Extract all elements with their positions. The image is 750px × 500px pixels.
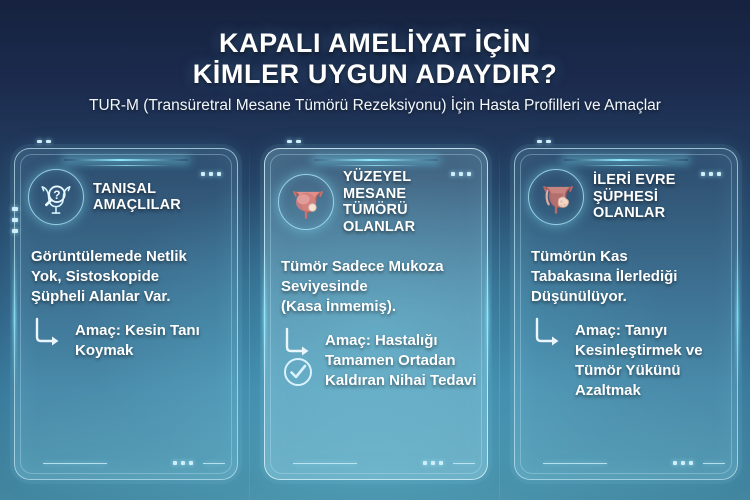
card-goal-text: Amaç: Hastalığı Tamamen Ortadan Kaldıran… — [325, 331, 487, 391]
elbow-arrow-icon — [31, 317, 65, 351]
check-circle-icon — [283, 357, 313, 387]
card-tanisal-amaclilar[interactable]: ? TANISAL AMAÇLILAR Görüntülemede Netlik… — [14, 148, 238, 480]
card-title: İLERİ EVRE ŞÜPHESİ OLANLAR — [593, 172, 725, 222]
page-title-line1: KAPALI AMELİYAT İÇİN — [0, 28, 750, 59]
card-accent-line — [564, 159, 688, 161]
bladder-superficial-tumor-icon — [278, 174, 334, 230]
page-title-line2: KİMLER UYGUN ADAYDIR? — [0, 59, 750, 90]
card-bottom-segment — [43, 463, 107, 465]
card-accent-line-secondary — [82, 165, 171, 166]
card-edge-glow-left — [263, 248, 266, 387]
card-top-dots — [37, 140, 51, 143]
card-left-dots — [12, 207, 18, 233]
elbow-arrow-icon — [281, 327, 315, 361]
card-bottom-dots — [673, 461, 693, 465]
page-subtitle: TUR-M (Transüretral Mesane Tümörü Rezeks… — [0, 97, 750, 115]
card-corner-dots — [451, 172, 471, 176]
card-edge-glow — [13, 248, 16, 387]
card-bottom-segment-right — [203, 463, 225, 465]
card-accent-line — [314, 159, 438, 161]
bladder-advanced-tumor-icon — [528, 169, 584, 225]
card-goal-text: Amaç: Tanıyı Kesinleştirmek ve Tümör Yük… — [575, 321, 737, 401]
card-corner-dots — [701, 172, 721, 176]
header: KAPALI AMELİYAT İÇİN KİMLER UYGUN ADAYDI… — [0, 28, 750, 115]
card-bottom-segment-right — [453, 463, 475, 465]
card-header: YÜZEYEL MESANE TÜMÖRÜ OLANLAR — [265, 149, 487, 235]
card-body-text: Tümörün Kas Tabakasına İlerlediği Düşünü… — [531, 247, 737, 307]
card-accent-line-secondary — [332, 165, 421, 166]
panel-seam-left — [249, 140, 250, 500]
card-goal-text: Amaç: Kesin Tanı Koymak — [75, 321, 237, 361]
infographic-canvas: KAPALI AMELİYAT İÇİN KİMLER UYGUN ADAYDI… — [0, 0, 750, 500]
card-bottom-dots — [173, 461, 193, 465]
panel-seam-right — [499, 140, 500, 500]
card-top-dots — [537, 140, 551, 143]
card-ileri-evre-suphesi-olanlar[interactable]: İLERİ EVRE ŞÜPHESİ OLANLAR Tümörün Kas T… — [514, 148, 738, 480]
card-goal-row: Amaç: Tanıyı Kesinleştirmek ve Tümör Yük… — [531, 321, 737, 401]
elbow-arrow-icon — [531, 317, 565, 351]
card-bottom-segment — [293, 463, 357, 465]
card-body-text: Tümör Sadece Mukoza Seviyesinde (Kasa İn… — [281, 257, 487, 317]
card-corner-dots — [201, 172, 221, 176]
card-bottom-segment — [543, 463, 607, 465]
card-top-dots — [287, 140, 301, 143]
card-goal-row: Amaç: Kesin Tanı Koymak — [31, 321, 237, 361]
card-bottom-segment-right — [703, 463, 725, 465]
card-yuzeyel-mesane-tumoru-olanlar[interactable]: YÜZEYEL MESANE TÜMÖRÜ OLANLAR Tümör Sade… — [264, 148, 488, 480]
card-goal-row: Amaç: Hastalığı Tamamen Ortadan Kaldıran… — [281, 331, 487, 391]
card-accent-line-secondary — [582, 165, 671, 166]
card-accent-line — [64, 159, 188, 161]
card-body-text: Görüntülemede Netlik Yok, Sistoskopide Ş… — [31, 247, 237, 307]
card-title: YÜZEYEL MESANE TÜMÖRÜ OLANLAR — [343, 169, 475, 235]
bladder-magnifier-question-icon: ? — [28, 169, 84, 225]
svg-text:?: ? — [53, 188, 60, 202]
card-title: TANISAL AMAÇLILAR — [93, 181, 225, 214]
card-bottom-dots — [423, 461, 443, 465]
